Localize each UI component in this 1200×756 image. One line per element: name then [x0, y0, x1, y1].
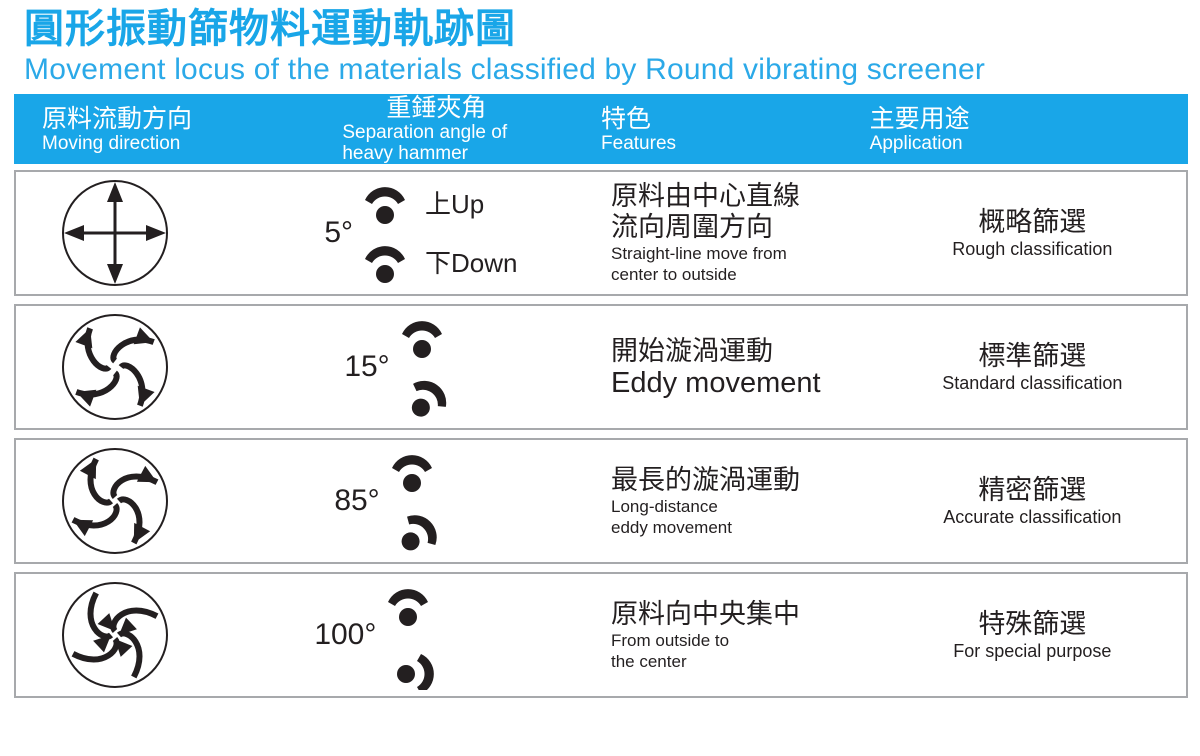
- poster-root: 圓形振動篩物料運動軌跡圖 Movement locus of the mater…: [0, 6, 1200, 756]
- header-col-separation-angle-en-line1: Separation angle of: [342, 122, 591, 143]
- hammer-up-label: 上Up: [425, 191, 484, 217]
- hammer-down-label: 下Down: [425, 250, 517, 276]
- cell-separation-angle: 5°上Up下Down: [214, 172, 601, 294]
- header-col-features: 特色 Features: [591, 105, 860, 154]
- feature-zh-line2: 流向周圍方向: [611, 212, 800, 243]
- cell-features: 開始漩渦運動Eddy movement: [601, 306, 879, 428]
- cell-application: 概略篩選Rough classification: [879, 172, 1186, 294]
- angle-value: 15°: [344, 352, 389, 382]
- angle-value: 5°: [324, 218, 353, 248]
- application-en: Accurate classification: [879, 506, 1186, 528]
- header-col-features-en: Features: [601, 133, 860, 154]
- header-col-application-zh: 主要用途: [870, 105, 1188, 133]
- feature-en-line1: From outside to: [611, 630, 800, 651]
- hammer-down-icon: [382, 640, 434, 690]
- header-col-application: 主要用途 Application: [860, 105, 1188, 154]
- cell-features: 最長的漩渦運動Long-distanceeddy movement: [601, 440, 879, 562]
- cell-separation-angle: 15°: [214, 306, 601, 428]
- header-col-moving-direction-en: Moving direction: [42, 133, 342, 154]
- header-col-separation-angle-zh: 重錘夾角: [386, 94, 591, 122]
- feature-en-line2: eddy movement: [611, 517, 800, 538]
- feature-en-line2: center to outside: [611, 264, 800, 285]
- cross-arrows-outward-icon: [54, 174, 176, 292]
- swirl-inward-icon: [54, 576, 176, 694]
- cell-application: 特殊篩選For special purpose: [879, 574, 1186, 696]
- hammer-up-icon: [382, 581, 434, 631]
- swirl-outward-icon: [54, 308, 176, 426]
- feature-zh-line1: 開始漩渦運動: [611, 336, 821, 367]
- feature-zh-line1: 原料向中央集中: [611, 599, 800, 630]
- header-col-separation-angle-en-line2: heavy hammer: [342, 143, 591, 164]
- swirl-outward-long-icon: [54, 442, 176, 560]
- feature-en-line2: the center: [611, 651, 800, 672]
- table-row: 100°原料向中央集中From outside tothe center特殊篩選…: [14, 572, 1188, 698]
- hammer-up-icon: [386, 447, 438, 497]
- page-title-zh: 圓形振動篩物料運動軌跡圖: [24, 6, 1194, 52]
- cell-application: 標準篩選Standard classification: [879, 306, 1186, 428]
- application-en: Rough classification: [879, 238, 1186, 260]
- cell-moving-direction: [16, 306, 214, 428]
- header-col-moving-direction-zh: 原料流動方向: [42, 105, 342, 133]
- application-zh: 特殊篩選: [879, 608, 1186, 640]
- table-row: 5°上Up下Down原料由中心直線流向周圍方向Straight-line mov…: [14, 170, 1188, 296]
- application-zh: 標準篩選: [879, 340, 1186, 372]
- cell-separation-angle: 100°: [214, 574, 601, 696]
- page-title-en: Movement locus of the materials classifi…: [24, 52, 1194, 88]
- cell-application: 精密篩選Accurate classification: [879, 440, 1186, 562]
- cell-moving-direction: [16, 172, 214, 294]
- hammer-down-icon: [359, 238, 411, 288]
- table-row: 15°開始漩渦運動Eddy movement標準篩選Standard class…: [14, 304, 1188, 430]
- angle-value: 100°: [314, 620, 376, 650]
- header-col-separation-angle: 重錘夾角 Separation angle of heavy hammer: [342, 94, 591, 164]
- cell-features: 原料由中心直線流向周圍方向Straight-line move fromcent…: [601, 172, 879, 294]
- header-col-application-en: Application: [870, 133, 1188, 154]
- hammer-up-icon: [396, 313, 448, 363]
- application-en: Standard classification: [879, 372, 1186, 394]
- table-row: 85°最長的漩渦運動Long-distanceeddy movement精密篩選…: [14, 438, 1188, 564]
- table-header-row: 原料流動方向 Moving direction 重錘夾角 Separation …: [14, 94, 1188, 164]
- header-col-features-zh: 特色: [601, 105, 860, 133]
- hammer-down-icon: [386, 506, 438, 556]
- feature-zh-line1: 最長的漩渦運動: [611, 465, 800, 496]
- table-body: 5°上Up下Down原料由中心直線流向周圍方向Straight-line mov…: [6, 170, 1194, 698]
- feature-en-line1: Eddy movement: [611, 367, 821, 399]
- cell-moving-direction: [16, 440, 214, 562]
- angle-value: 85°: [334, 486, 379, 516]
- cell-features: 原料向中央集中From outside tothe center: [601, 574, 879, 696]
- application-zh: 精密篩選: [879, 474, 1186, 506]
- application-en: For special purpose: [879, 640, 1186, 662]
- hammer-down-icon: [396, 372, 448, 422]
- feature-zh-line1: 原料由中心直線: [611, 181, 800, 212]
- header-col-moving-direction: 原料流動方向 Moving direction: [14, 105, 342, 154]
- cell-moving-direction: [16, 574, 214, 696]
- feature-en-line1: Straight-line move from: [611, 243, 800, 264]
- feature-en-line1: Long-distance: [611, 496, 800, 517]
- application-zh: 概略篩選: [879, 206, 1186, 238]
- cell-separation-angle: 85°: [214, 440, 601, 562]
- hammer-up-icon: [359, 179, 411, 229]
